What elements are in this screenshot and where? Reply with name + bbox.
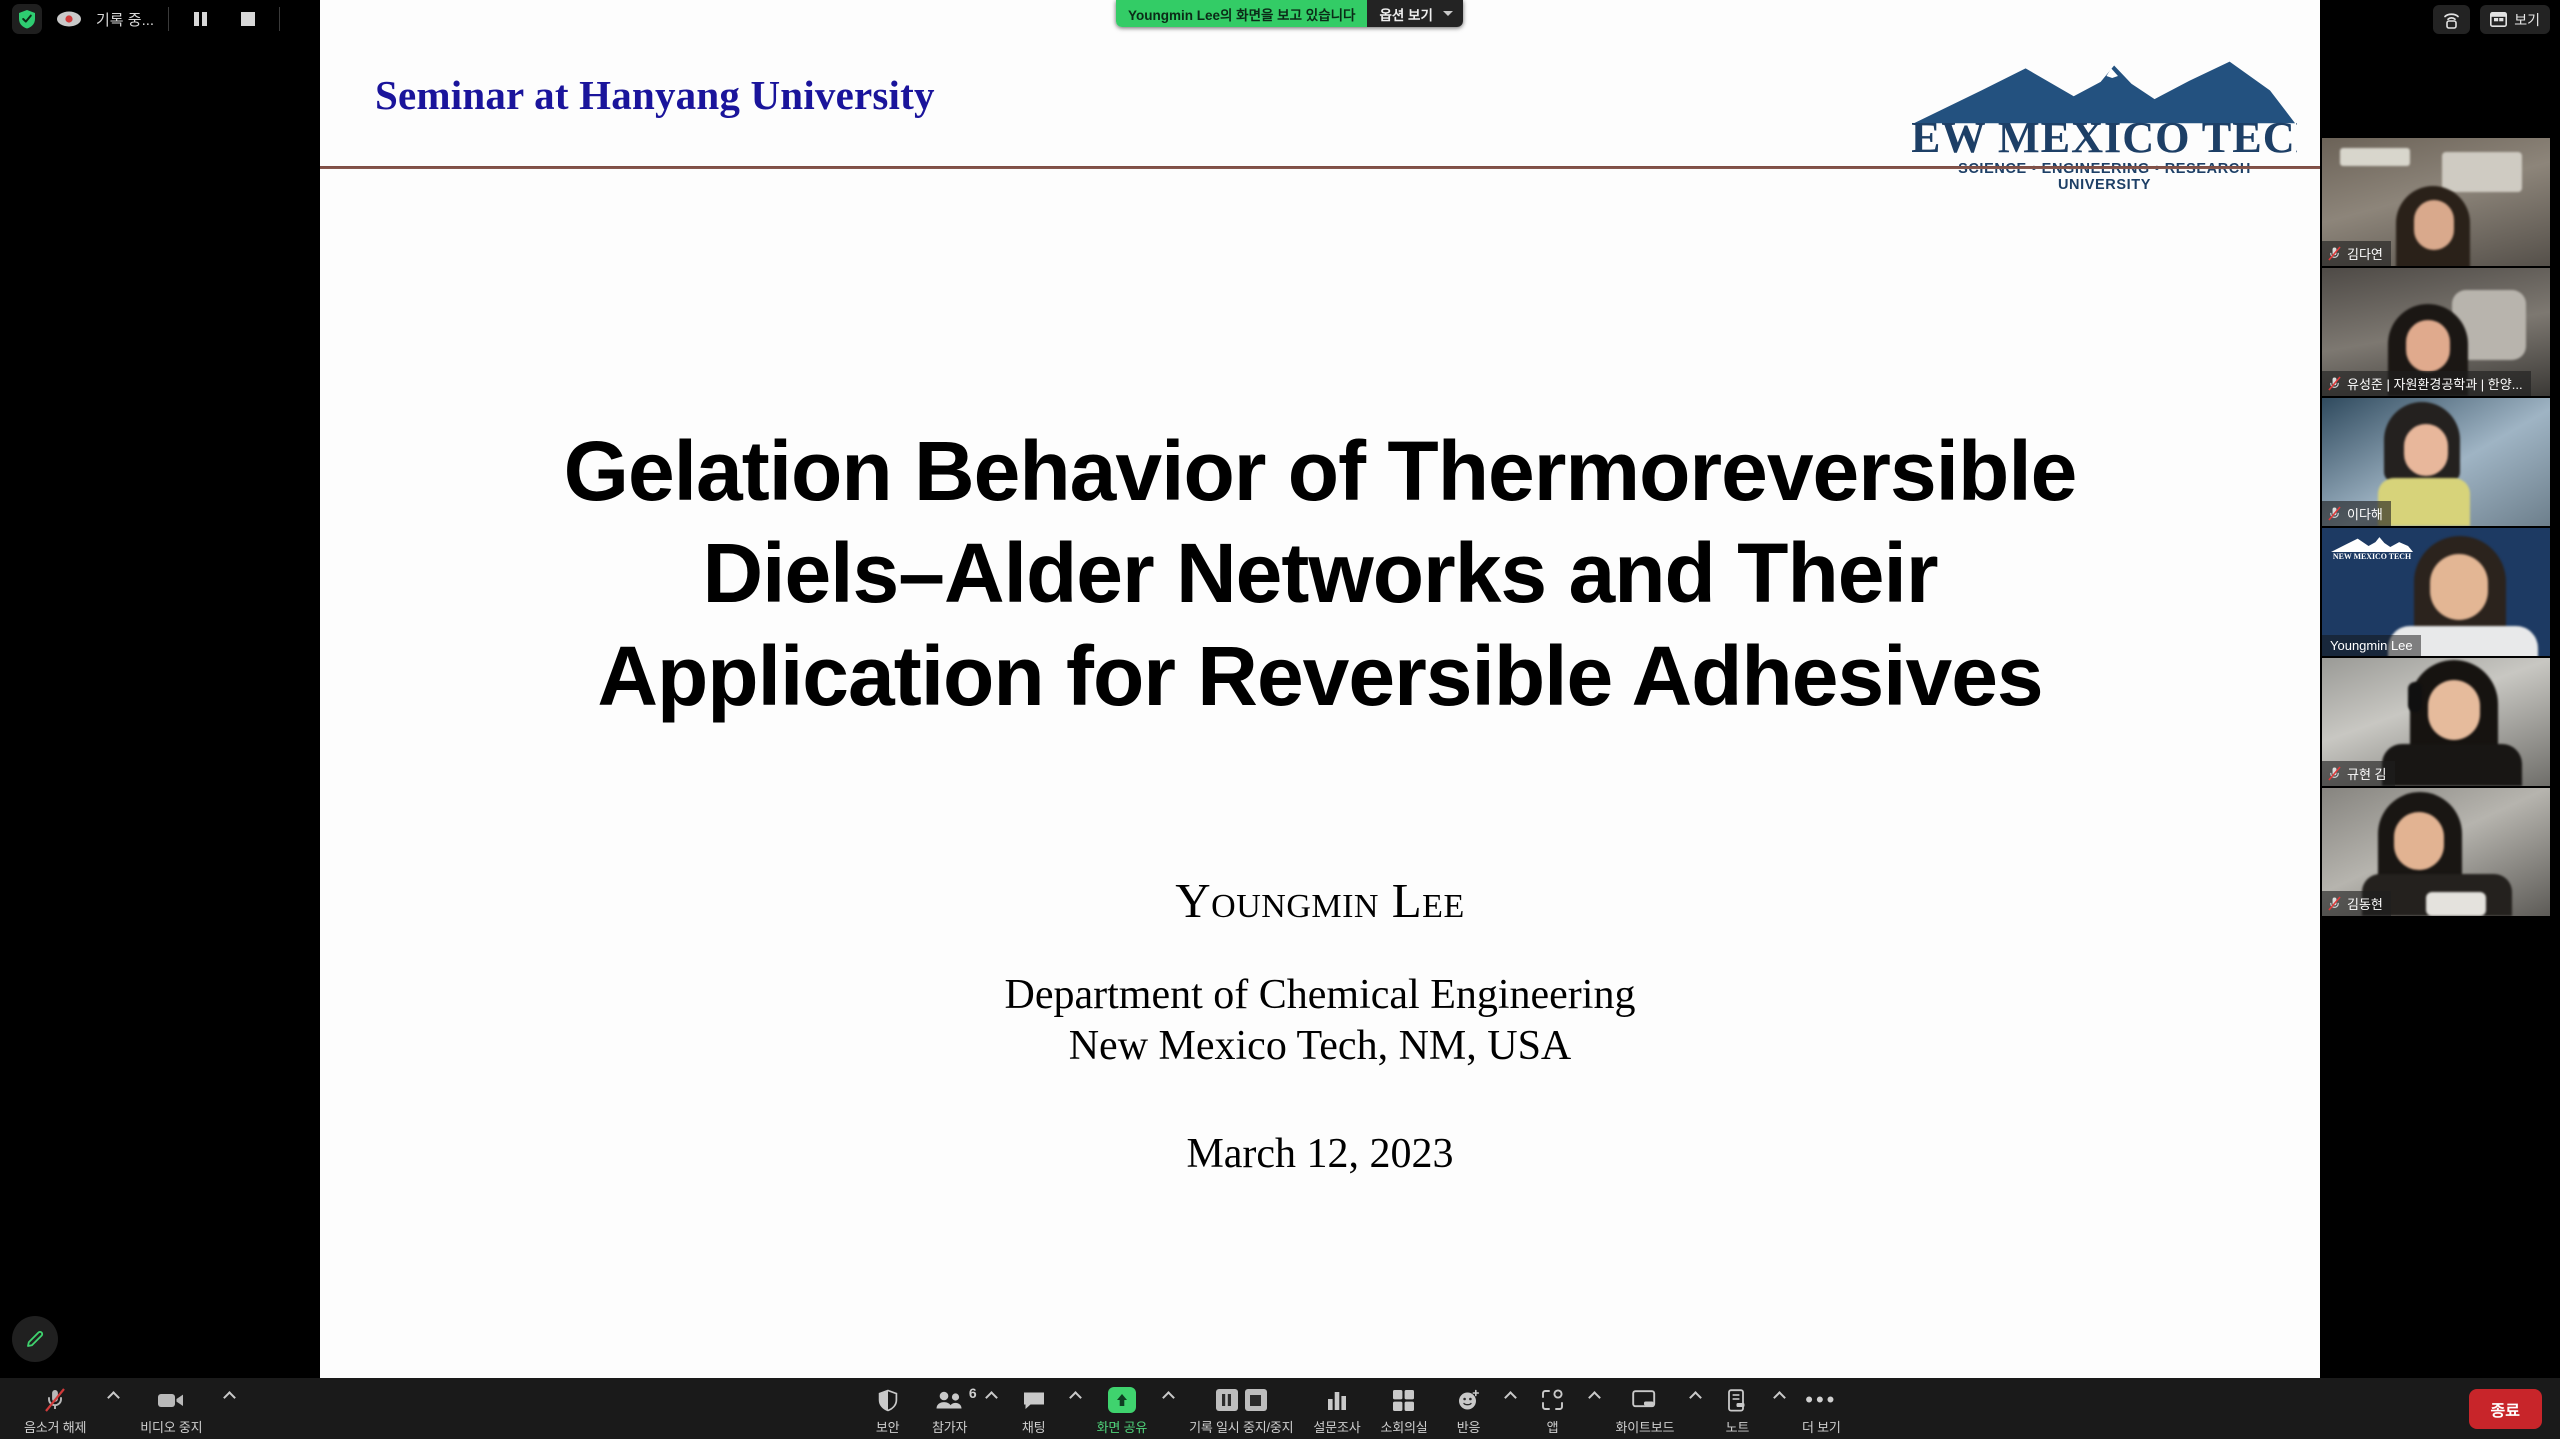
view-options-label: 옵션 보기: [1379, 4, 1432, 24]
reactions-smiley-icon: [1457, 1387, 1481, 1413]
polls-label: 설문조사: [1313, 1417, 1360, 1436]
participant-name: 김동현: [2347, 894, 2383, 913]
record-pause-stop-icon: [1216, 1387, 1267, 1413]
pause-icon: [1216, 1389, 1238, 1411]
chevron-up-icon: [1162, 1391, 1175, 1404]
chat-caret[interactable]: [1065, 1381, 1087, 1402]
reactions-label: 반응: [1457, 1417, 1481, 1436]
participant-nameplate: 유성준 | 자원환경공학과 | 한양...: [2322, 371, 2531, 396]
connection-quality-icon[interactable]: [2433, 5, 2470, 34]
whiteboard-label: 화이트보드: [1616, 1417, 1675, 1436]
record-pause-stop-button[interactable]: 기록 일시 중지/중지: [1179, 1381, 1303, 1436]
chevron-up-icon: [1588, 1391, 1601, 1404]
participants-label: 참가자: [932, 1417, 967, 1436]
toolbar-right-group: 종료: [2469, 1389, 2560, 1429]
participant-tile[interactable]: 김다연: [2322, 138, 2550, 266]
notes-button[interactable]: 노트: [1706, 1381, 1768, 1436]
participant-filmstrip: 김다연 유성준 | 자원환경공학과 | 한양... 이다해: [2322, 138, 2550, 918]
divider: [279, 7, 280, 31]
microphone-muted-icon: [2328, 506, 2341, 521]
notes-caret[interactable]: [1768, 1381, 1790, 1402]
presentation-title: Gelation Behavior of Thermoreversible Di…: [430, 420, 2210, 727]
participant-name: 이다해: [2347, 504, 2383, 523]
participant-tile[interactable]: 규현 김: [2322, 658, 2550, 786]
title-line: Diels–Alder Networks and Their: [430, 522, 2210, 624]
participants-count: 6: [969, 1385, 977, 1401]
chat-bubble-icon: [1022, 1387, 1046, 1413]
microphone-muted-icon: [2328, 766, 2341, 781]
chevron-up-icon: [985, 1391, 998, 1404]
polls-bar-icon: [1326, 1387, 1348, 1413]
security-button[interactable]: 보안: [857, 1381, 919, 1436]
stop-icon[interactable]: [231, 0, 265, 38]
view-button-label: 보기: [2514, 10, 2540, 30]
apps-caret[interactable]: [1584, 1381, 1606, 1402]
participant-tile-active-speaker[interactable]: NEW MEXICO TECH Youngmin Lee: [2322, 528, 2550, 656]
chat-label: 채팅: [1022, 1417, 1046, 1436]
participant-nameplate: 이다해: [2322, 501, 2391, 526]
polls-button[interactable]: 설문조사: [1303, 1381, 1370, 1436]
chat-button[interactable]: 채팅: [1003, 1381, 1065, 1436]
microphone-muted-icon: [43, 1387, 67, 1413]
shared-slide[interactable]: Seminar at Hanyang University NEW MEXICO…: [320, 0, 2320, 1378]
share-screen-label: 화면 공유: [1097, 1417, 1147, 1436]
title-line: Application for Reversible Adhesives: [430, 625, 2210, 727]
title-line: Gelation Behavior of Thermoreversible: [430, 420, 2210, 522]
participants-button[interactable]: 6 참가자: [919, 1381, 981, 1436]
security-label: 보안: [876, 1417, 900, 1436]
video-toggle-label: 비디오 중지: [140, 1417, 202, 1436]
participant-name: 김다연: [2347, 244, 2383, 263]
chevron-up-icon: [1504, 1391, 1517, 1404]
share-banner-message: Youngmin Lee의 화면을 보고 있습니다: [1116, 0, 1367, 27]
more-dots-icon: •••: [1805, 1387, 1837, 1413]
apps-button[interactable]: 앱: [1522, 1381, 1584, 1436]
presenter-name: Youngmin Lee: [320, 872, 2320, 929]
pencil-icon: [24, 1328, 46, 1350]
participant-name: 유성준 | 자원환경공학과 | 한양...: [2347, 374, 2523, 393]
virtual-background-logo: NEW MEXICO TECH: [2330, 535, 2414, 561]
chevron-down-icon: [1443, 11, 1453, 16]
chevron-up-icon: [223, 1391, 236, 1404]
shield-check-icon[interactable]: [12, 4, 42, 34]
stop-icon: [1245, 1389, 1267, 1411]
participant-name: Youngmin Lee: [2330, 638, 2413, 653]
participant-nameplate: 규현 김: [2322, 761, 2395, 786]
notes-label: 노트: [1726, 1417, 1750, 1436]
pause-icon[interactable]: [183, 0, 217, 38]
whiteboard-caret[interactable]: [1684, 1381, 1706, 1402]
share-screen-button[interactable]: 화면 공유: [1087, 1381, 1157, 1436]
meeting-toolbar: 음소거 해제 비디오 중지 보안 6: [0, 1378, 2560, 1439]
chevron-up-icon: [1773, 1391, 1786, 1404]
notes-icon: [1727, 1387, 1747, 1413]
breakout-rooms-button[interactable]: 소회의실: [1370, 1381, 1437, 1436]
shield-icon: [878, 1387, 898, 1413]
participant-nameplate: 김동현: [2322, 891, 2391, 916]
whiteboard-icon: [1632, 1387, 1658, 1413]
end-meeting-button[interactable]: 종료: [2469, 1389, 2542, 1429]
microphone-muted-icon: [2328, 896, 2341, 911]
slide-header-title: Seminar at Hanyang University: [375, 71, 935, 119]
whiteboard-button[interactable]: 화이트보드: [1606, 1381, 1685, 1436]
top-right-controls: 보기: [2433, 5, 2550, 34]
grid-view-icon: [2490, 12, 2507, 27]
recording-status-label: 기록 중...: [96, 9, 154, 30]
recording-status-bar: 기록 중...: [0, 0, 292, 38]
header-divider: [320, 166, 2320, 169]
video-options-caret[interactable]: [218, 1381, 240, 1402]
record-pause-stop-label: 기록 일시 중지/중지: [1189, 1417, 1293, 1436]
mute-toggle-label: 음소거 해제: [24, 1417, 86, 1436]
chevron-up-icon: [107, 1391, 120, 1404]
participant-tile[interactable]: 유성준 | 자원환경공학과 | 한양...: [2322, 268, 2550, 396]
participant-name: 규현 김: [2347, 764, 2387, 783]
more-button[interactable]: ••• 더 보기: [1790, 1381, 1852, 1436]
participant-nameplate: Youngmin Lee: [2322, 635, 2421, 656]
presentation-date: March 12, 2023: [320, 1130, 2320, 1178]
share-screen-icon: [1108, 1387, 1136, 1413]
screen-share-banner: Youngmin Lee의 화면을 보고 있습니다 옵션 보기: [1116, 0, 1463, 27]
microphone-muted-icon: [2328, 376, 2341, 391]
reactions-button[interactable]: 반응: [1438, 1381, 1500, 1436]
breakout-rooms-label: 소회의실: [1380, 1417, 1427, 1436]
toolbar-center-group: 보안 6 참가자 채팅: [240, 1381, 2468, 1436]
more-label: 더 보기: [1802, 1417, 1841, 1436]
breakout-rooms-icon: [1392, 1387, 1415, 1413]
svg-text:NEW MEXICO TECH: NEW MEXICO TECH: [2333, 552, 2411, 561]
participants-caret[interactable]: [981, 1381, 1003, 1402]
mute-toggle-button[interactable]: 음소거 해제: [14, 1381, 96, 1436]
participants-icon: 6: [935, 1387, 965, 1413]
recording-indicator-icon: [56, 9, 82, 29]
divider: [168, 7, 169, 31]
apps-icon: [1541, 1387, 1564, 1413]
apps-label: 앱: [1547, 1417, 1559, 1436]
affiliation-line: Department of Chemical Engineering: [320, 970, 2320, 1021]
video-camera-icon: [157, 1387, 185, 1413]
participant-nameplate: 김다연: [2322, 241, 2391, 266]
annotate-button[interactable]: [12, 1316, 58, 1362]
new-mexico-tech-logo: NEW MEXICO TECH SCIENCE • ENGINEERING • …: [1912, 52, 2297, 193]
view-options-button[interactable]: 옵션 보기: [1367, 0, 1462, 27]
reactions-caret[interactable]: [1500, 1381, 1522, 1402]
presenter-affiliation: Department of Chemical Engineering New M…: [320, 970, 2320, 1072]
microphone-muted-icon: [2328, 246, 2341, 261]
view-button[interactable]: 보기: [2480, 5, 2550, 34]
chevron-up-icon: [1689, 1391, 1702, 1404]
affiliation-line: New Mexico Tech, NM, USA: [320, 1021, 2320, 1072]
zoom-meeting-window: 기록 중... Youngmin Lee의 화면을 보고 있습니다 옵션 보기 …: [0, 0, 2560, 1439]
video-toggle-button[interactable]: 비디오 중지: [130, 1381, 212, 1436]
toolbar-left-group: 음소거 해제 비디오 중지: [0, 1381, 240, 1436]
participant-tile[interactable]: 이다해: [2322, 398, 2550, 526]
share-screen-caret[interactable]: [1157, 1381, 1179, 1402]
chevron-up-icon: [1069, 1391, 1082, 1404]
svg-text:NEW MEXICO TECH: NEW MEXICO TECH: [1912, 113, 2297, 160]
audio-options-caret[interactable]: [102, 1381, 124, 1402]
participant-tile[interactable]: 김동현: [2322, 788, 2550, 916]
